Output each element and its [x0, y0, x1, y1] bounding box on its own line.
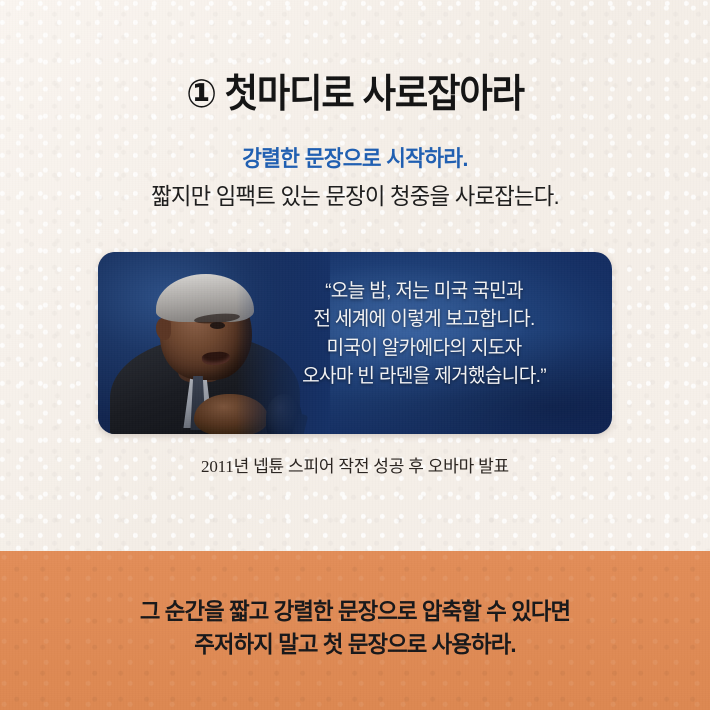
infographic-card: ① 첫마디로 사로잡아라 강렬한 문장으로 시작하라. 짧지만 임팩트 있는 문…: [0, 0, 710, 710]
quote-line: 미국이 알카에다의 지도자: [252, 334, 597, 362]
quote-line: 오사마 빈 라덴을 제거했습니다.”: [252, 362, 597, 390]
footer-text: 그 순간을 짧고 강렬한 문장으로 압축할 수 있다면 주저하지 말고 첫 문장…: [11, 595, 700, 660]
subheading-block: 강렬한 문장으로 시작하라. 짧지만 임팩트 있는 문장이 청중을 사로잡는다.: [0, 144, 710, 212]
subheading-highlight: 강렬한 문장으로 시작하라.: [11, 144, 700, 175]
quote-line: 전 세계에 이렇게 보고합니다.: [252, 305, 597, 333]
subheading-body: 짧지만 임팩트 있는 문장이 청중을 사로잡는다.: [11, 180, 700, 212]
ear-shape: [156, 318, 171, 340]
quote-text: “오늘 밤, 저는 미국 국민과 전 세계에 이렇게 보고합니다. 미국이 알카…: [252, 277, 597, 391]
quote-card: “오늘 밤, 저는 미국 국민과 전 세계에 이렇게 보고합니다. 미국이 알카…: [98, 252, 612, 434]
page-title: ① 첫마디로 사로잡아라: [25, 63, 685, 119]
eye-shape: [210, 322, 225, 329]
quote-line: “오늘 밤, 저는 미국 국민과: [252, 277, 597, 305]
footer-line: 그 순간을 짧고 강렬한 문장으로 압축할 수 있다면: [11, 595, 700, 628]
footer-band: 그 순간을 짧고 강렬한 문장으로 압축할 수 있다면 주저하지 말고 첫 문장…: [0, 551, 710, 710]
quote-caption: 2011년 넵튠 스피어 작전 성공 후 오바마 발표: [0, 452, 710, 477]
footer-line: 주저하지 말고 첫 문장으로 사용하라.: [11, 628, 700, 661]
top-section: ① 첫마디로 사로잡아라 강렬한 문장으로 시작하라. 짧지만 임팩트 있는 문…: [0, 0, 710, 551]
